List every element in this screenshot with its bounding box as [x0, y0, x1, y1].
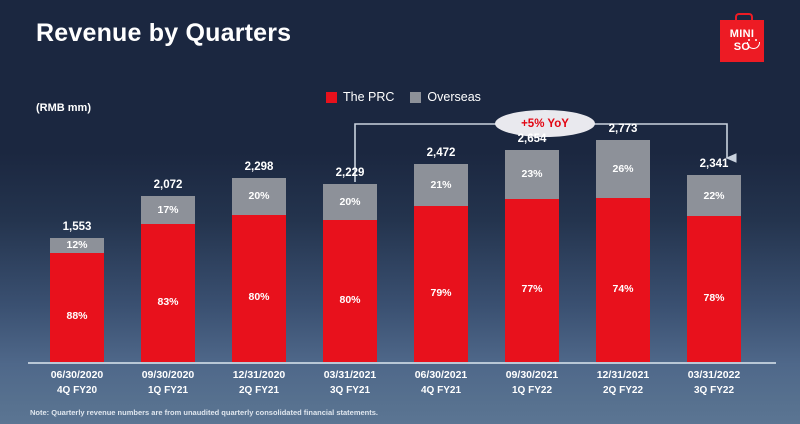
bar-group[interactable]: 2,07217%83% — [141, 196, 195, 362]
revenue-by-quarters-slide: Revenue by Quarters MINI SO (RMB mm) The… — [0, 0, 800, 424]
bar-segment-label-prc: 80% — [248, 291, 269, 303]
bar-segment-prc[interactable]: 88% — [50, 253, 104, 362]
bar-segment-overseas[interactable]: 22% — [687, 175, 741, 216]
bar-segment-label-prc: 80% — [339, 294, 360, 306]
bar-segment-label-prc: 77% — [521, 283, 542, 295]
x-axis-tick-quarter: 3Q FY22 — [654, 383, 774, 398]
bar-segment-label-overseas: 17% — [157, 204, 178, 216]
logo-text-line1: MINI — [716, 29, 768, 40]
bar-group[interactable]: 1,55312%88% — [50, 238, 104, 362]
logo-smiley-eye-right — [755, 39, 757, 41]
units-label: (RMB mm) — [36, 102, 91, 114]
legend-label-prc: The PRC — [343, 90, 394, 104]
bar-segment-overseas[interactable]: 20% — [323, 184, 377, 220]
legend-swatch-overseas — [410, 92, 421, 103]
bar-total-label: 2,072 — [154, 179, 183, 191]
bar-segment-prc[interactable]: 80% — [232, 215, 286, 362]
chart-legend: The PRC Overseas — [326, 90, 481, 104]
bar-segment-overseas[interactable]: 21% — [414, 164, 468, 206]
bar-total-label: 2,229 — [336, 167, 365, 179]
bar-segment-label-overseas: 23% — [521, 168, 542, 180]
logo-text-line2: SO — [716, 42, 768, 53]
bar-total-label: 2,773 — [609, 123, 638, 135]
x-axis-line — [28, 362, 776, 364]
page-title: Revenue by Quarters — [36, 19, 291, 48]
bar-segment-prc[interactable]: 77% — [505, 199, 559, 362]
bar-segment-label-overseas: 20% — [248, 190, 269, 202]
bar-segment-prc[interactable]: 79% — [414, 206, 468, 362]
bar-total-label: 1,553 — [63, 221, 92, 233]
bar-group[interactable]: 2,77326%74% — [596, 140, 650, 362]
bar-segment-label-prc: 83% — [157, 296, 178, 308]
bar-segment-label-prc: 79% — [430, 287, 451, 299]
bar-segment-label-prc: 78% — [703, 292, 724, 304]
bar-total-label: 2,472 — [427, 147, 456, 159]
bar-total-label: 2,654 — [518, 133, 547, 145]
bar-segment-label-overseas: 22% — [703, 190, 724, 202]
bar-segment-prc[interactable]: 78% — [687, 216, 741, 362]
bar-segment-prc[interactable]: 80% — [323, 220, 377, 362]
bar-segment-overseas[interactable]: 12% — [50, 238, 104, 253]
bar-segment-overseas[interactable]: 17% — [141, 196, 195, 224]
bar-segment-prc[interactable]: 74% — [596, 198, 650, 362]
bar-segment-overseas[interactable]: 23% — [505, 150, 559, 199]
bar-segment-label-overseas: 26% — [612, 163, 633, 175]
bar-group[interactable]: 2,29820%80% — [232, 178, 286, 362]
bar-segment-label-prc: 74% — [612, 283, 633, 295]
legend-item-prc: The PRC — [326, 90, 394, 104]
bar-group[interactable]: 2,47221%79% — [414, 164, 468, 362]
legend-item-overseas: Overseas — [410, 90, 481, 104]
legend-label-overseas: Overseas — [427, 90, 481, 104]
bar-group[interactable]: 2,65423%77% — [505, 150, 559, 362]
bar-segment-label-overseas: 20% — [339, 196, 360, 208]
x-axis-tick-3q-fy22: 03/31/20223Q FY22 — [654, 368, 774, 398]
chart-plot-area: 1,55312%88%2,07217%83%2,29820%80%2,22920… — [28, 140, 772, 362]
bar-segment-overseas[interactable]: 26% — [596, 140, 650, 198]
legend-swatch-prc — [326, 92, 337, 103]
bar-total-label: 2,341 — [700, 158, 729, 170]
bar-segment-prc[interactable]: 83% — [141, 224, 195, 362]
bar-segment-label-prc: 88% — [66, 310, 87, 322]
bar-segment-overseas[interactable]: 20% — [232, 178, 286, 215]
x-axis-tick-date: 03/31/2022 — [654, 368, 774, 383]
bar-segment-label-overseas: 12% — [66, 239, 87, 251]
bar-group[interactable]: 2,34122%78% — [687, 175, 741, 362]
bar-total-label: 2,298 — [245, 161, 274, 173]
logo-smiley-eye-left — [748, 39, 750, 41]
miniso-logo: MINI SO — [716, 10, 768, 62]
bar-segment-label-overseas: 21% — [430, 179, 451, 191]
footnote: Note: Quarterly revenue numbers are from… — [30, 408, 378, 417]
bar-group[interactable]: 2,22920%80% — [323, 184, 377, 362]
